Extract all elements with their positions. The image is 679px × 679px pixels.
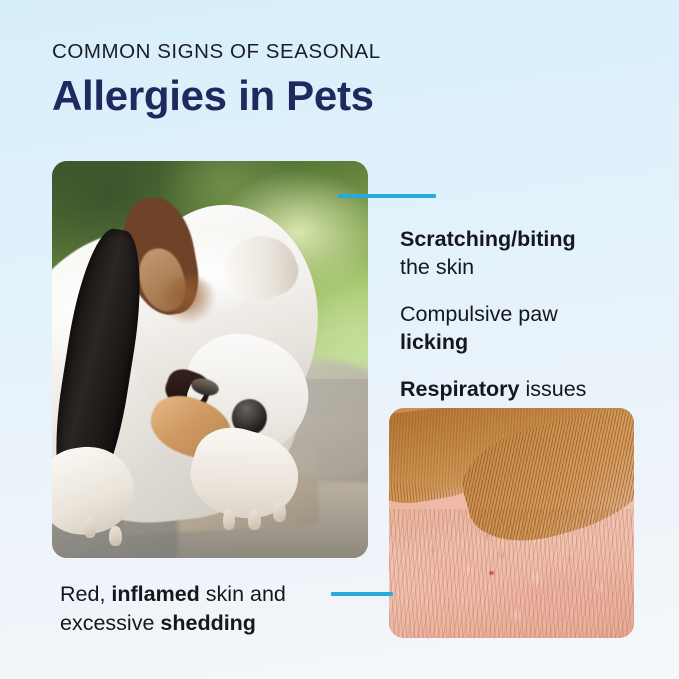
sparse-hair-texture <box>389 509 634 638</box>
dog-claw-5 <box>109 526 122 546</box>
symptom-item-licking: Compulsive paw licking <box>400 301 655 357</box>
symptom-3-bold: Respiratory <box>400 377 520 401</box>
symptom-item-respiratory: Respiratory issues <box>400 376 655 404</box>
symptom-item-scratching: Scratching/biting the skin <box>400 226 655 282</box>
dog-claw-4 <box>84 518 97 538</box>
dog-claw-3 <box>223 510 236 530</box>
caption-bold-inflamed: inflamed <box>111 582 199 606</box>
page-header: COMMON SIGNS OF SEASONAL Allergies in Pe… <box>52 40 612 120</box>
dog-claw-2 <box>248 510 261 530</box>
skin-photo-caption: Red, inflamed skin and excessive sheddin… <box>60 580 350 637</box>
symptom-3-regular: issues <box>525 377 586 401</box>
dog-brown-fur-patch <box>159 276 216 324</box>
symptom-2-regular: Compulsive paw <box>400 302 558 326</box>
connector-to-symptom-list <box>338 194 436 198</box>
page-title: Allergies in Pets <box>52 71 612 121</box>
eyebrow-text: COMMON SIGNS OF SEASONAL <box>52 40 612 65</box>
caption-bold-shedding: shedding <box>160 611 256 635</box>
symptom-2-bold: licking <box>400 330 468 354</box>
symptom-1-regular: the skin <box>400 255 474 279</box>
dog-claw-1 <box>273 502 286 522</box>
symptom-list: Scratching/biting the skin Compulsive pa… <box>400 226 655 404</box>
inflamed-skin-photo <box>389 408 634 638</box>
caption-part-3: excessive <box>60 611 154 635</box>
caption-part-2: skin and <box>206 582 286 606</box>
dog-biting-paw-photo <box>52 161 368 558</box>
caption-part-1: Red, <box>60 582 105 606</box>
symptom-1-bold: Scratching/biting <box>400 227 576 251</box>
